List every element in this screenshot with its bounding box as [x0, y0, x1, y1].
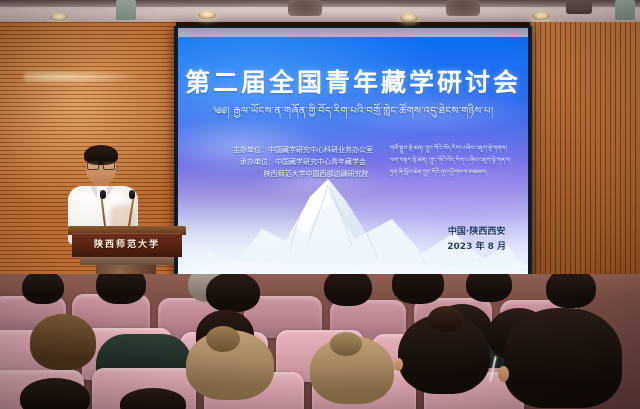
audience-head: [22, 274, 64, 304]
audience-hair-bun: [206, 326, 240, 352]
ceiling-fixture: [116, 0, 136, 20]
conference-photo-scene: 第二届全国青年藏学研讨会 ༄༅། རྒྱལ་ཡོངས་ན་གཞོན་གྱི་བོ…: [0, 0, 640, 409]
podium-base: [80, 257, 174, 265]
slide-venue-text: 中国·陕西西安: [447, 225, 506, 240]
slide-subtitle-tibetan: ༄༅། རྒྱལ་ཡོངས་ན་གཞོན་གྱི་བོད་རིག་པའི་བགྲ…: [178, 100, 528, 128]
speaker-collar-right: [107, 186, 114, 198]
audience-head-masked: [504, 308, 622, 408]
ceiling-fixture: [615, 0, 635, 20]
audience-head: [324, 274, 372, 306]
ceiling-vent-icon: [566, 0, 592, 14]
audience-head: [466, 274, 512, 302]
ceiling-spotlight-icon: [50, 13, 68, 21]
organizer-tibetan-line-2: ལག་བསྟར་སྡེ་ཚན། ཀྲུང་གོའི་བོད་རིག་པ་ཞིབ་…: [390, 155, 522, 167]
audience-head: [392, 274, 444, 304]
slide-title: 第二届全国青年藏学研讨会: [178, 63, 528, 99]
ceiling-spotlight-icon: [198, 11, 216, 19]
slide-organizer-block-tibetan: གཙོ་སྒྲུབ་སྡེ་ཚན། ཀྲུང་གོའི་བོད་རིག་པ་ཞི…: [390, 143, 522, 179]
presentation-slide: 第二届全国青年藏学研讨会 ༄༅། རྒྱལ་ཡོངས་ན་གཞོན་གྱི་བོ…: [178, 37, 528, 287]
slide-date-text: 2023 年 8 月: [447, 240, 506, 255]
slide-venue-block: 中国·陕西西安 2023 年 8 月: [447, 225, 506, 255]
slide-organizer-block: 主办单位：中国藏学研究中心科研业务办公室 承办单位：中国藏学研究中心青年藏学会 …: [208, 144, 398, 180]
projection-screen-top-edge: [178, 28, 528, 37]
glasses-icon: [87, 161, 115, 168]
podium-front-panel: 陕西师范大学: [72, 233, 182, 257]
ceiling-vent-icon: [288, 0, 322, 16]
audience-head: [206, 274, 260, 312]
ceiling-vent-icon: [446, 0, 480, 16]
microphone-icon: [129, 190, 135, 199]
organizer-tibetan-line-1: གཙོ་སྒྲུབ་སྡེ་ཚན། ཀྲུང་གོའི་བོད་རིག་པ་ཞི…: [390, 143, 522, 155]
audience-area: [0, 274, 640, 409]
wall-light-reflection: [24, 70, 144, 84]
ceiling-spotlight-icon: [532, 12, 550, 20]
audience-head: [96, 274, 146, 304]
audience-hair-bun: [330, 332, 362, 356]
speaker-collar-left: [90, 186, 97, 198]
organizer-line-1: 主办单位：中国藏学研究中心科研业务办公室: [208, 144, 398, 156]
podium-sign-text: 陕西师范大学: [72, 237, 182, 250]
audience-head: [546, 274, 596, 308]
microphone-icon: [100, 190, 106, 199]
organizer-line-2: 承办单位：中国藏学研究中心青年藏学会: [208, 156, 398, 168]
ceiling-spotlight-icon: [400, 14, 418, 22]
organizer-tibetan-line-3: ཧྲན་ཞི་སློབ་ཆེན་ཀྲུང་གོའི་ནུབ་ཕྱོགས་ས་མཚ…: [390, 167, 522, 179]
organizer-line-3: 陕西师范大学中国西部边疆研究院: [208, 168, 398, 180]
audience-ear: [498, 366, 509, 382]
audience-head: [30, 314, 96, 370]
audience-hair-bun: [428, 306, 464, 332]
audience-ear: [394, 358, 403, 371]
